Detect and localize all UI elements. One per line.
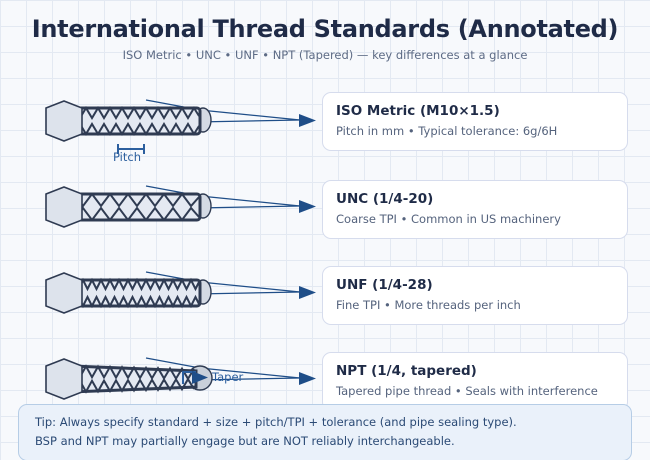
bolt-shaft-tapered (72, 366, 196, 392)
page-subtitle: ISO Metric • UNC • UNF • NPT (Tapered) —… (0, 46, 650, 64)
leader-arrowhead (299, 372, 316, 385)
header: International Thread Standards (Annotate… (0, 14, 650, 64)
annotation-description: Fine TPI • More threads per inch (336, 297, 614, 314)
annotation-description: Tapered pipe thread • Seals with interfe… (336, 383, 614, 400)
annotation-card-unc[interactable]: UNC (1/4-20) Coarse TPI • Common in US m… (322, 180, 628, 239)
leader-arrowhead (299, 286, 316, 299)
annotation-title: ISO Metric (M10×1.5) (336, 102, 614, 120)
taper-label: Taper (212, 370, 243, 384)
hex-head (46, 101, 82, 141)
pitch-label: Pitch (113, 150, 141, 164)
annotation-description: Coarse TPI • Common in US machinery (336, 211, 614, 228)
tip-line-2: BSP and NPT may partially engage but are… (35, 432, 615, 451)
tip-line-1: Tip: Always specify standard + size + pi… (35, 413, 615, 432)
annotation-card-unf[interactable]: UNF (1/4-28) Fine TPI • More threads per… (322, 266, 628, 325)
annotation-title: NPT (1/4, tapered) (336, 362, 614, 380)
thread-standards-infographic: International Thread Standards (Annotate… (0, 0, 650, 460)
tip-callout-box: Tip: Always specify standard + size + pi… (18, 404, 632, 460)
annotation-title: UNF (1/4-28) (336, 276, 614, 294)
annotation-description: Pitch in mm • Typical tolerance: 6g/6H (336, 123, 614, 140)
annotation-title: UNC (1/4-20) (336, 190, 614, 208)
hex-head (46, 359, 82, 399)
page-title: International Thread Standards (Annotate… (0, 14, 650, 44)
hex-head (46, 273, 82, 313)
annotation-card-iso-metric[interactable]: ISO Metric (M10×1.5) Pitch in mm • Typic… (322, 92, 628, 151)
leader-arrowhead (299, 114, 316, 127)
bolt-shaft (72, 194, 200, 220)
annotation-card-npt[interactable]: NPT (1/4, tapered) Tapered pipe thread •… (322, 352, 628, 411)
hex-head (46, 187, 82, 227)
leader-arrowhead (299, 200, 316, 213)
